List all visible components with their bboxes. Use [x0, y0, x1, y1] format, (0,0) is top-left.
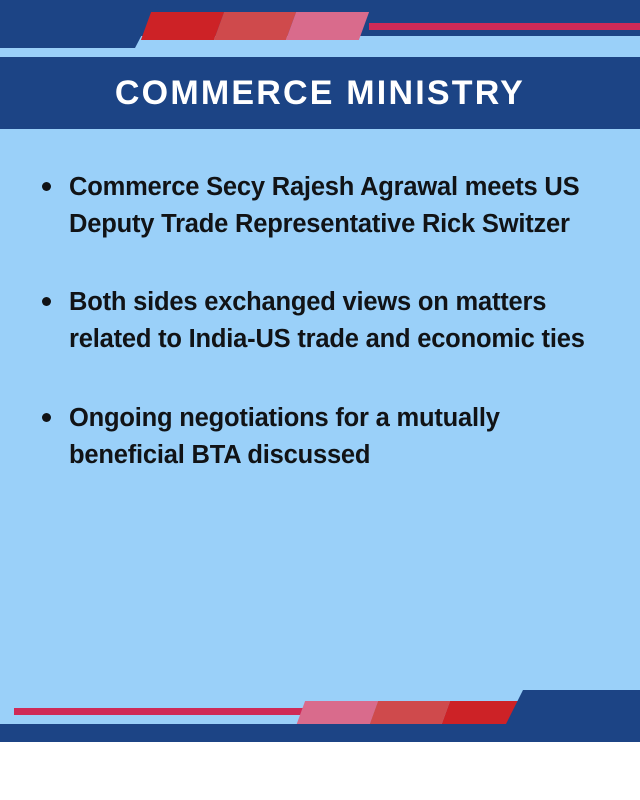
page-title: COMMERCE MINISTRY — [115, 74, 525, 113]
bullet-dot-icon — [42, 182, 51, 191]
title-band: COMMERCE MINISTRY — [0, 57, 640, 129]
list-item: Ongoing negotiations for a mutually bene… — [42, 400, 606, 473]
list-item-text: Ongoing negotiations for a mutually bene… — [69, 400, 606, 473]
list-item: Both sides exchanged views on matters re… — [42, 284, 606, 357]
bullet-list: Commerce Secy Rajesh Agrawal meets US De… — [0, 129, 640, 689]
bullet-dot-icon — [42, 413, 51, 422]
list-item: Commerce Secy Rajesh Agrawal meets US De… — [42, 169, 606, 242]
list-item-text: Commerce Secy Rajesh Agrawal meets US De… — [69, 169, 606, 242]
accent-slant-red-mid — [214, 12, 296, 40]
top-thin-rule — [369, 23, 640, 30]
bottom-navy-strip — [0, 724, 640, 742]
footer-bar: Follow us on @etnowlive E T N O W — [0, 742, 640, 800]
accent-slant-red-dark — [141, 12, 224, 40]
accent-slant-red-light — [286, 12, 369, 40]
list-item-text: Both sides exchanged views on matters re… — [69, 284, 606, 357]
bullet-dot-icon — [42, 297, 51, 306]
news-card: COMMERCE MINISTRY Commerce Secy Rajesh A… — [0, 0, 640, 800]
